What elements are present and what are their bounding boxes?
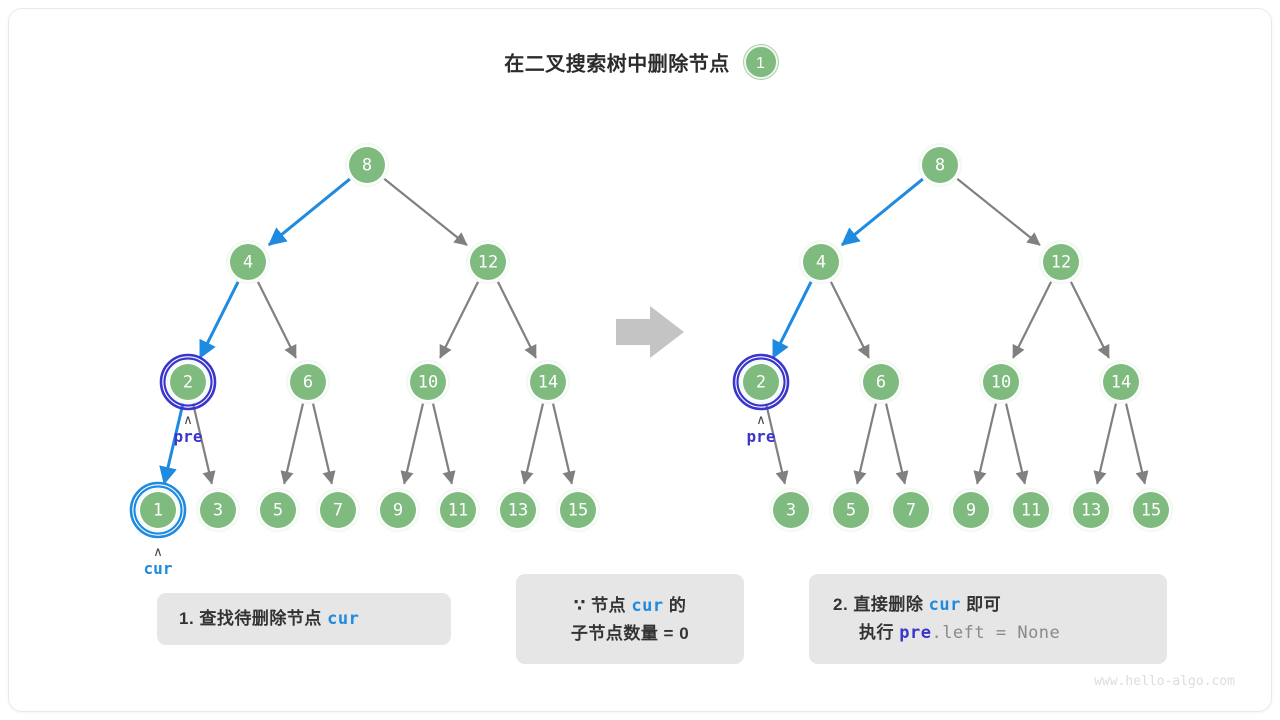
node-value: 4 (816, 253, 826, 273)
node-value: 14 (1111, 373, 1131, 393)
caption-reason-b: 的 (664, 596, 687, 615)
pointer-caret-icon: ∧ (153, 545, 163, 560)
node-value: 10 (418, 373, 438, 393)
tree-edge (773, 282, 811, 358)
node-value: 3 (786, 501, 796, 521)
tree-node: 9 (950, 489, 992, 531)
tree-node: 13 (1070, 489, 1112, 531)
tree-edge (1126, 403, 1145, 483)
tree-node: 7 (890, 489, 932, 531)
node-value: 3 (213, 501, 223, 521)
caption-step-1-line: 1. 查找待删除节点 cur (179, 605, 429, 633)
tree-node: 4 (227, 241, 269, 283)
tree-edge (1013, 282, 1051, 358)
tree-node: 6 (860, 361, 902, 403)
caption-step-2-line-1: 2. 直接删除 cur 即可 (833, 591, 1143, 619)
node-value: 12 (1051, 253, 1071, 273)
tree-edge (258, 282, 296, 358)
tree-node: 12 (1040, 241, 1082, 283)
tree-node: 13 (497, 489, 539, 531)
tree-edge (384, 179, 467, 245)
tree-node: 11 (437, 489, 479, 531)
tree-edge (857, 403, 876, 483)
caption-step-1-prefix: 1. 查找待删除节点 (179, 609, 327, 628)
tree-node: 2 (161, 355, 215, 409)
right-tree-pointers: ∧pre (747, 413, 776, 446)
tree-node: 14 (1100, 361, 1142, 403)
tree-node: 1 (131, 483, 185, 537)
node-value: 6 (876, 373, 886, 393)
caption-reason-code: cur (631, 596, 663, 616)
node-value: 7 (906, 501, 916, 521)
node-value: 5 (273, 501, 283, 521)
tree-node: 4 (800, 241, 842, 283)
tree-edge (553, 403, 572, 483)
caption-step-2-line-2: 执行 pre.left = None (833, 619, 1143, 647)
tree-node: 2 (734, 355, 788, 409)
node-value: 15 (568, 501, 588, 521)
tree-edge (440, 282, 478, 358)
pointer-caret-icon: ∧ (183, 413, 193, 428)
node-value: 14 (538, 373, 558, 393)
node-value: 2 (183, 373, 193, 393)
caption-reason-line-2: 子节点数量 = 0 (571, 620, 689, 647)
node-value: 7 (333, 501, 343, 521)
tree-edge (200, 282, 238, 358)
tree-node: 11 (1010, 489, 1052, 531)
tree-edge (284, 403, 303, 483)
tree-node: 10 (407, 361, 449, 403)
tree-edge (269, 179, 350, 245)
node-value: 8 (362, 156, 372, 176)
tree-node: 6 (287, 361, 329, 403)
site-watermark: www.hello-algo.com (1094, 674, 1235, 689)
tree-node: 7 (317, 489, 359, 531)
pre-pointer-label: pre (174, 427, 203, 446)
tree-edge (498, 282, 536, 358)
tree-node: 9 (377, 489, 419, 531)
caption-step-2: 2. 直接删除 cur 即可 执行 pre.left = None (809, 574, 1167, 664)
caption-step-1: 1. 查找待删除节点 cur (157, 593, 451, 645)
node-value: 11 (1021, 501, 1041, 521)
node-value: 13 (508, 501, 528, 521)
tree-edge (842, 179, 923, 245)
diagram-card: 在二叉搜索树中删除节点1 841226101413579111315 84122… (8, 8, 1272, 712)
caption-reason: ∵ 节点 cur 的 子节点数量 = 0 (516, 574, 744, 664)
tree-edge (1097, 403, 1116, 483)
cur-pointer-label: cur (144, 559, 173, 578)
tree-node: 5 (830, 489, 872, 531)
node-value: 2 (756, 373, 766, 393)
tree-node: 15 (557, 489, 599, 531)
node-value: 11 (448, 501, 468, 521)
caption-step-2-pre-code: pre (899, 623, 931, 643)
right-tree-nodes: 84122610143579111315 (734, 144, 1172, 531)
node-value: 5 (846, 501, 856, 521)
node-value: 13 (1081, 501, 1101, 521)
right-tree-edges (766, 179, 1145, 484)
node-value: 15 (1141, 501, 1161, 521)
tree-node: 15 (1130, 489, 1172, 531)
caption-reason-line-1: ∵ 节点 cur 的 (574, 592, 687, 620)
node-value: 9 (966, 501, 976, 521)
tree-node: 8 (919, 144, 961, 186)
tree-edge (433, 403, 452, 483)
caption-step-2-exec-prefix: 执行 (859, 623, 899, 642)
tree-edge (524, 403, 543, 483)
node-value: 4 (243, 253, 253, 273)
tree-node: 10 (980, 361, 1022, 403)
tree-edge (404, 403, 423, 483)
node-value: 10 (991, 373, 1011, 393)
caption-reason-a: ∵ 节点 (574, 596, 632, 615)
caption-step-2-suffix: 即可 (961, 595, 1001, 614)
left-tree-edges (164, 179, 572, 484)
pointer-caret-icon: ∧ (756, 413, 766, 428)
tree-node: 14 (527, 361, 569, 403)
tree-node: 12 (467, 241, 509, 283)
tree-node: 8 (346, 144, 388, 186)
caption-step-2-expr: .left = None (931, 623, 1060, 643)
caption-step-2-prefix: 2. 直接删除 (833, 595, 929, 614)
node-value: 8 (935, 156, 945, 176)
node-value: 12 (478, 253, 498, 273)
tree-node: 5 (257, 489, 299, 531)
tree-edge (831, 282, 869, 358)
tree-edge (886, 403, 905, 483)
node-value: 1 (153, 501, 163, 521)
tree-node: 3 (770, 489, 812, 531)
caption-step-2-code: cur (929, 595, 961, 615)
tree-edge (957, 179, 1040, 245)
tree-edge (1071, 282, 1109, 358)
tree-edge (977, 403, 996, 483)
caption-step-1-code: cur (327, 609, 359, 629)
tree-node: 3 (197, 489, 239, 531)
node-value: 6 (303, 373, 313, 393)
tree-edge (313, 403, 332, 483)
tree-edge (1006, 403, 1025, 483)
pre-pointer-label: pre (747, 427, 776, 446)
left-tree-nodes: 841226101413579111315 (131, 144, 599, 537)
transition-block-arrow (616, 306, 684, 358)
node-value: 9 (393, 501, 403, 521)
